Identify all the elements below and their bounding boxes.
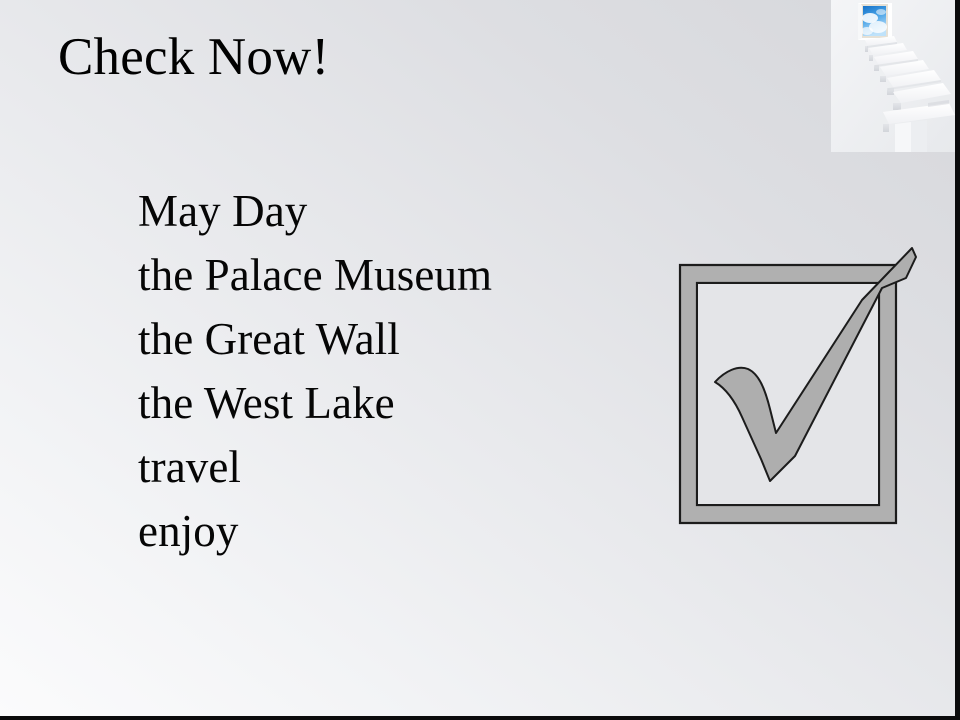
list-item: travel bbox=[138, 435, 678, 499]
list-item: the West Lake bbox=[138, 371, 678, 435]
body-text-list: May Day the Palace Museum the Great Wall… bbox=[138, 179, 678, 563]
presentation-slide: Check Now! May Day the Palace Museum the… bbox=[0, 0, 960, 720]
list-item: enjoy bbox=[138, 499, 678, 563]
page-title: Check Now! bbox=[58, 28, 329, 87]
list-item: the Great Wall bbox=[138, 307, 678, 371]
list-item: May Day bbox=[138, 179, 678, 243]
white-staircase-photo bbox=[831, 0, 955, 152]
list-item: the Palace Museum bbox=[138, 243, 678, 307]
checkbox-checked-icon bbox=[668, 243, 918, 533]
